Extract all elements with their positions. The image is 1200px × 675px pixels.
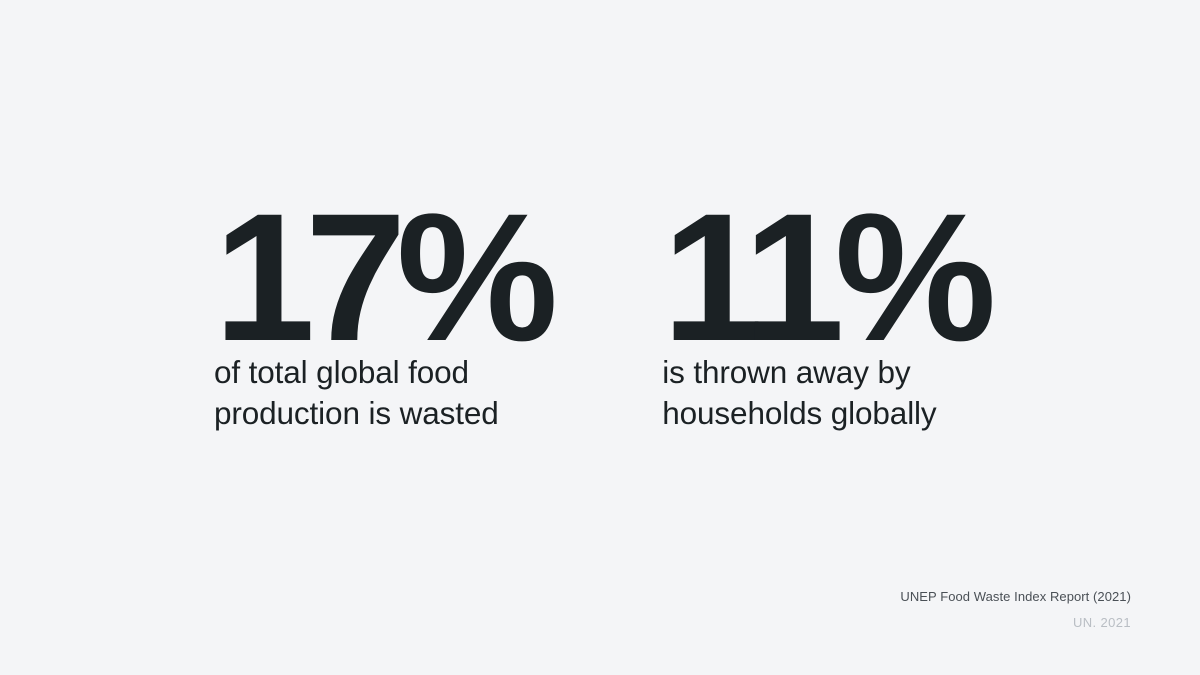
stat-block-food-production: 17% of total global food production is w… bbox=[214, 186, 548, 434]
stat-caption-households: is thrown away by households globally bbox=[662, 352, 936, 434]
source-attribution: UNEP Food Waste Index Report (2021) UN. … bbox=[900, 587, 1131, 633]
stat-block-households: 11% is thrown away by households globall… bbox=[662, 186, 986, 434]
stat-caption-food-production: of total global food production is waste… bbox=[214, 352, 499, 434]
stat-value-17-percent: 17% bbox=[214, 186, 548, 352]
slide-canvas: 17% of total global food production is w… bbox=[0, 0, 1200, 675]
source-report-title: UNEP Food Waste Index Report (2021) bbox=[900, 587, 1131, 607]
stat-value-11-percent: 11% bbox=[662, 186, 986, 352]
source-publisher-year: UN. 2021 bbox=[900, 613, 1131, 633]
statistics-row: 17% of total global food production is w… bbox=[214, 186, 986, 434]
